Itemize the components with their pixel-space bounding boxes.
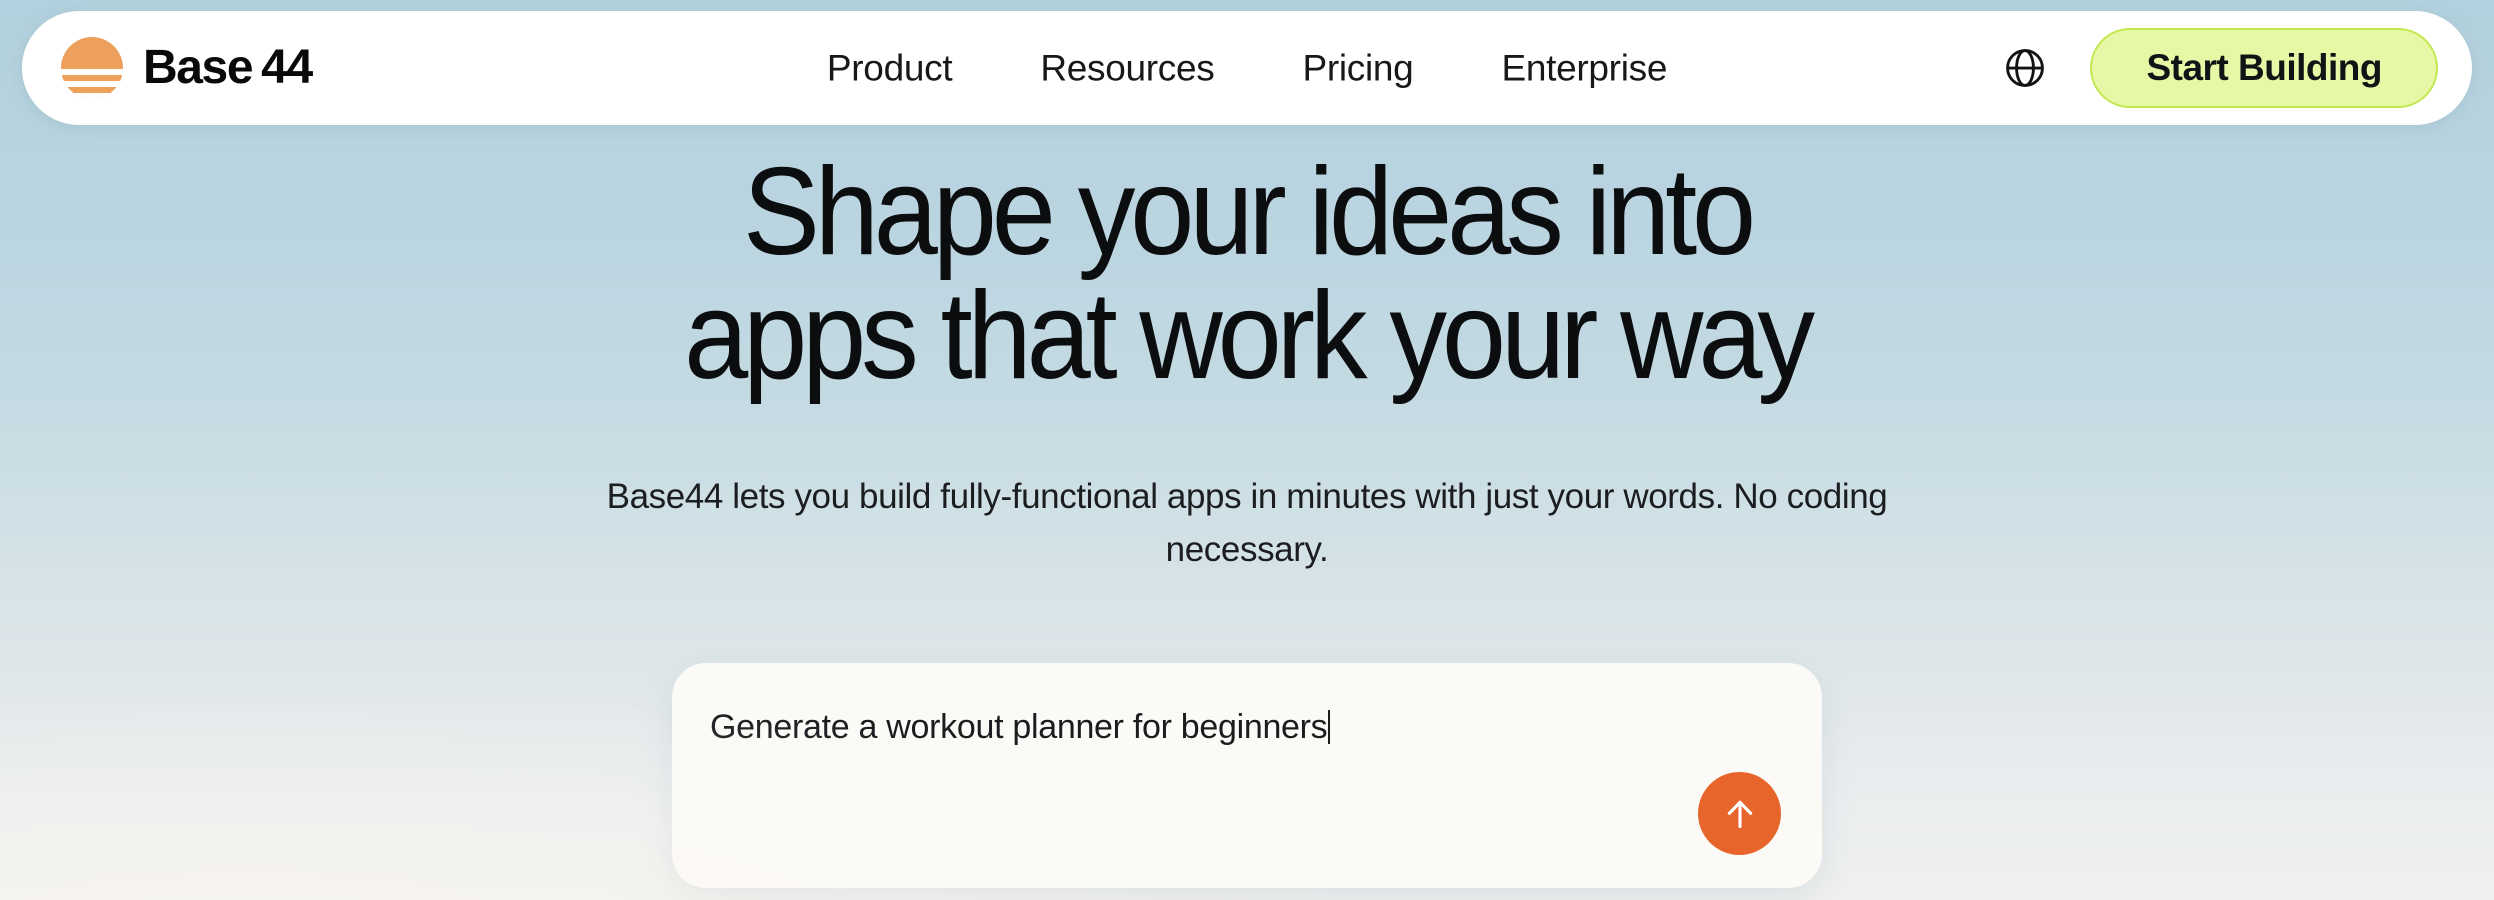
- hero-section: Shape your ideas into apps that work you…: [0, 150, 2494, 576]
- headline-line-1: Shape your ideas into: [87, 150, 2406, 274]
- start-building-button[interactable]: Start Building: [2090, 28, 2438, 108]
- nav-item-pricing[interactable]: Pricing: [1302, 50, 1413, 87]
- sun-stripe: [61, 81, 123, 87]
- top-navbar: Base44 Product Resources Pricing Enterpr…: [22, 11, 2472, 125]
- prompt-input-card[interactable]: Generate a workout planner for beginners: [672, 663, 1822, 888]
- navbar-right-group: Start Building: [2002, 28, 2438, 108]
- sun-stripe: [61, 93, 123, 99]
- hero-subtitle: Base44 lets you build fully-functional a…: [522, 470, 1972, 576]
- sun-stripe: [61, 69, 123, 75]
- brand-wordmark: Base44: [143, 44, 312, 92]
- globe-icon[interactable]: [2002, 45, 2048, 91]
- nav-item-resources[interactable]: Resources: [1040, 50, 1214, 87]
- brand-number: 44: [261, 41, 312, 94]
- prompt-value: Generate a workout planner for beginners: [710, 708, 1327, 746]
- submit-prompt-button[interactable]: [1698, 772, 1781, 855]
- nav-item-product[interactable]: Product: [827, 50, 952, 87]
- nav-item-enterprise[interactable]: Enterprise: [1501, 50, 1667, 87]
- nav-links: Product Resources Pricing Enterprise: [827, 50, 1667, 87]
- page-title: Shape your ideas into apps that work you…: [87, 150, 2406, 398]
- text-caret: [1328, 710, 1330, 744]
- brand-logo-link[interactable]: Base44: [61, 37, 312, 99]
- brand-name: Base: [143, 41, 252, 94]
- arrow-up-icon: [1720, 794, 1760, 834]
- headline-line-2: apps that work your way: [87, 274, 2406, 398]
- sunset-sun-icon: [61, 37, 123, 99]
- prompt-input[interactable]: Generate a workout planner for beginners: [710, 708, 1330, 747]
- page-background: Base44 Product Resources Pricing Enterpr…: [0, 0, 2494, 900]
